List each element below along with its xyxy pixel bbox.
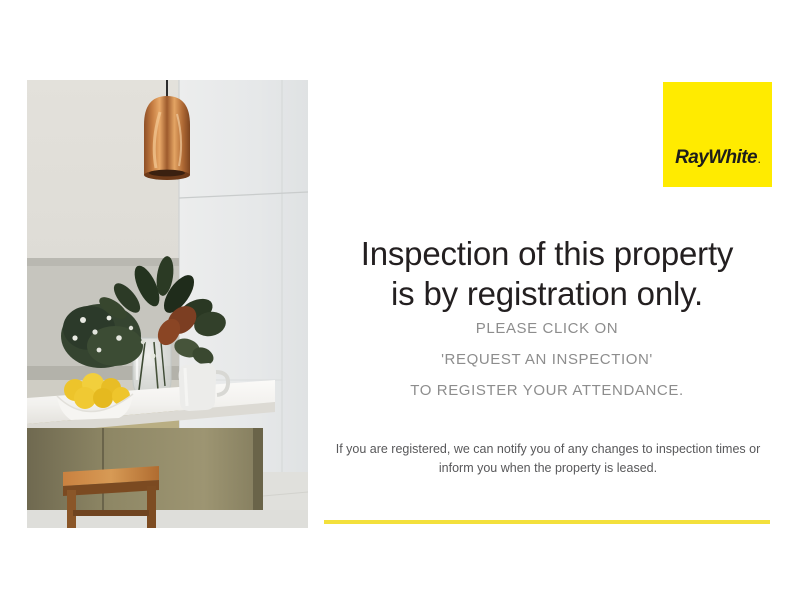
instruction-line-1: PLEASE CLICK ON	[322, 320, 772, 337]
inspection-notice-slide: RayWhite. Inspection of this property is…	[0, 0, 800, 600]
headline-line-2: is by registration only.	[322, 274, 772, 314]
instruction-line-3: TO REGISTER YOUR ATTENDANCE.	[322, 382, 772, 399]
logo-trademark-mark: .	[758, 155, 760, 165]
instructions-block: PLEASE CLICK ON 'REQUEST AN INSPECTION' …	[322, 320, 772, 399]
logo-wordmark-text: RayWhite	[675, 147, 757, 168]
footnote-line-1: If you are registered, we can notify you…	[324, 440, 772, 459]
footnote-text: If you are registered, we can notify you…	[324, 440, 772, 479]
logo-wordmark: RayWhite.	[675, 147, 760, 169]
headline-line-1: Inspection of this property	[322, 234, 772, 274]
footnote-line-2: inform you when the property is leased.	[324, 459, 772, 478]
logo-yellow-square: RayWhite.	[663, 82, 772, 187]
instruction-line-2: 'REQUEST AN INSPECTION'	[322, 351, 772, 368]
page-title: Inspection of this property is by regist…	[322, 234, 772, 315]
property-interior-photo	[27, 80, 308, 528]
content-column: RayWhite. Inspection of this property is…	[322, 70, 772, 540]
ray-white-logo: RayWhite.	[663, 82, 772, 187]
photo-illustration	[27, 80, 308, 528]
yellow-divider	[324, 520, 770, 524]
